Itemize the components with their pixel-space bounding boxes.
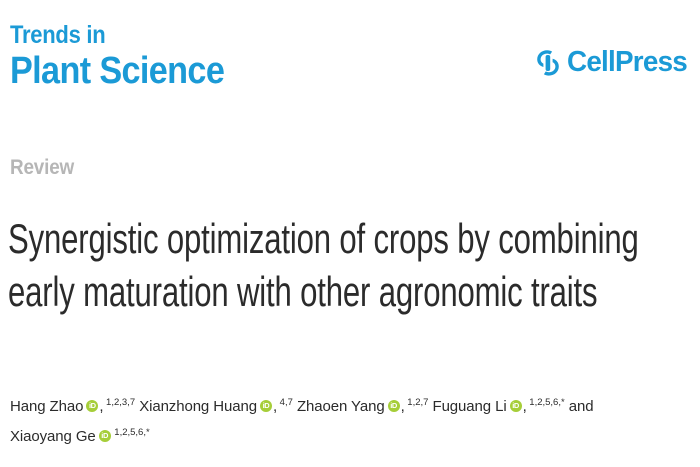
orcid-icon[interactable]	[260, 400, 272, 412]
author-name: Fuguang Li	[433, 398, 507, 415]
author-name: Xianzhong Huang	[139, 398, 257, 415]
publisher-name: CellPress	[567, 48, 687, 77]
article-title-line-2: early maturation with other agronomic tr…	[8, 265, 526, 318]
journal-masthead-line-name: Plant Science	[10, 50, 388, 92]
author-name: Hang Zhao	[10, 398, 83, 415]
article-title-line-1: Synergistic optimization of crops by com…	[8, 212, 526, 265]
author-entry: Zhaoen Yang, 1,2,7	[297, 398, 428, 415]
author-entry: Xianzhong Huang, 4,7	[139, 398, 293, 415]
author-affiliation-marks: 1,2,3,7	[103, 397, 135, 408]
author-entry: Fuguang Li, 1,2,5,6,*	[433, 398, 565, 415]
author-entry: Hang Zhao, 1,2,3,7	[10, 398, 135, 415]
author-affiliation-marks: 1,2,5,6,*	[112, 427, 150, 438]
article-type-label: Review	[10, 156, 74, 180]
author-affiliation-marks: 1,2,7	[405, 397, 429, 408]
orcid-icon[interactable]	[510, 400, 522, 412]
author-name: Zhaoen Yang	[297, 398, 385, 415]
author-conjunction: and	[569, 398, 594, 415]
author-affiliation-marks: 1,2,5,6,*	[527, 397, 565, 408]
author-byline: Hang Zhao, 1,2,3,7 Xianzhong Huang, 4,7 …	[10, 392, 700, 452]
article-title: Synergistic optimization of crops by com…	[8, 212, 700, 318]
article-header-page: Trends in Plant Science CellPress Review…	[0, 0, 700, 467]
orcid-icon[interactable]	[388, 400, 400, 412]
publisher-logo: CellPress	[535, 48, 692, 77]
author-affiliation-marks: 4,7	[277, 397, 293, 408]
journal-masthead: Trends in Plant Science	[10, 22, 430, 92]
author-name: Xiaoyang Ge	[10, 428, 96, 445]
journal-masthead-line-trends: Trends in	[10, 22, 380, 48]
cellpress-swirl-icon	[535, 49, 561, 77]
orcid-icon[interactable]	[99, 430, 111, 442]
orcid-icon[interactable]	[86, 400, 98, 412]
author-entry: Xiaoyang Ge 1,2,5,6,*	[10, 428, 150, 445]
